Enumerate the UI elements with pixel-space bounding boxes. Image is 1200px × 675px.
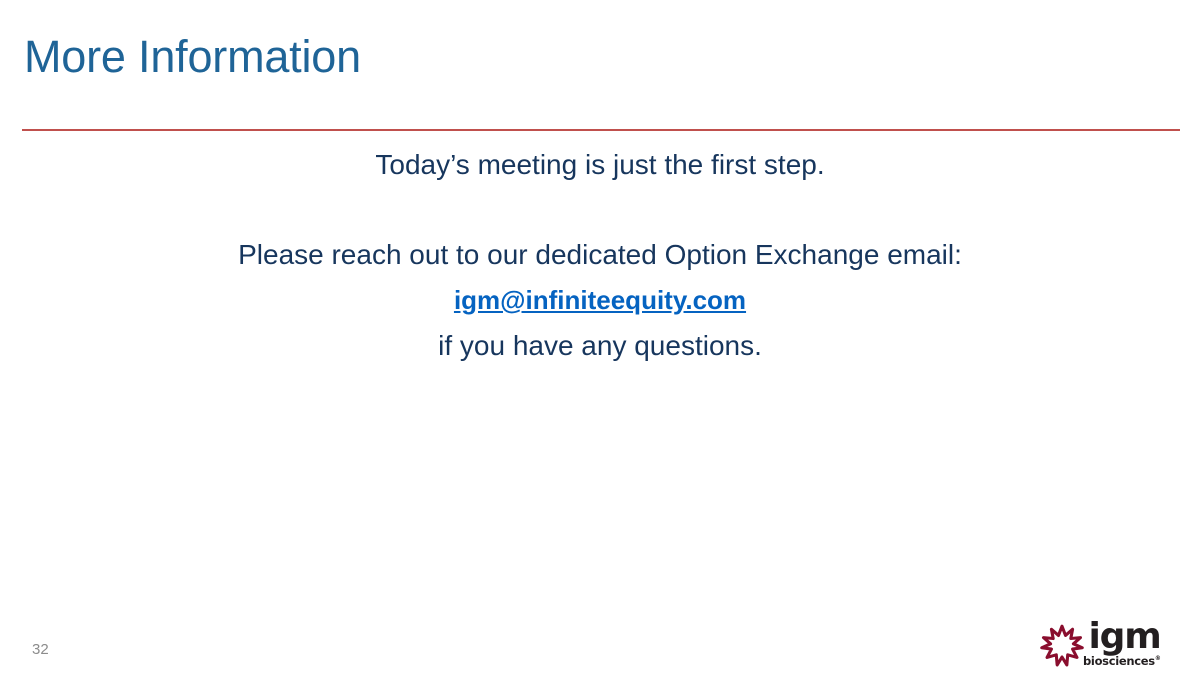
body-line-spacer — [60, 187, 1140, 232]
title-divider — [22, 129, 1180, 131]
page-title: More Information — [24, 34, 361, 79]
company-logo: igm biosciences® — [1040, 620, 1188, 670]
registered-trademark-icon: ® — [1155, 655, 1161, 662]
logo-tagline-text: biosciences — [1083, 654, 1155, 668]
contact-email-link[interactable]: igm@infiniteequity.com — [454, 285, 746, 315]
slide-canvas: More Information Today’s meeting is just… — [0, 0, 1200, 675]
logo-tagline: biosciences® — [1083, 653, 1161, 667]
email-line: igm@infiniteequity.com — [60, 277, 1140, 323]
body-text-block: Today’s meeting is just the first step. … — [60, 142, 1140, 368]
body-line-1: Today’s meeting is just the first step. — [60, 142, 1140, 187]
body-line-4: if you have any questions. — [60, 323, 1140, 368]
logo-wordmark: igm — [1089, 622, 1161, 652]
logo-wordmark-group: igm biosciences® — [1083, 620, 1161, 667]
page-number: 32 — [32, 641, 49, 658]
body-line-2: Please reach out to our dedicated Option… — [60, 232, 1140, 277]
eight-petal-star-icon — [1040, 624, 1084, 668]
